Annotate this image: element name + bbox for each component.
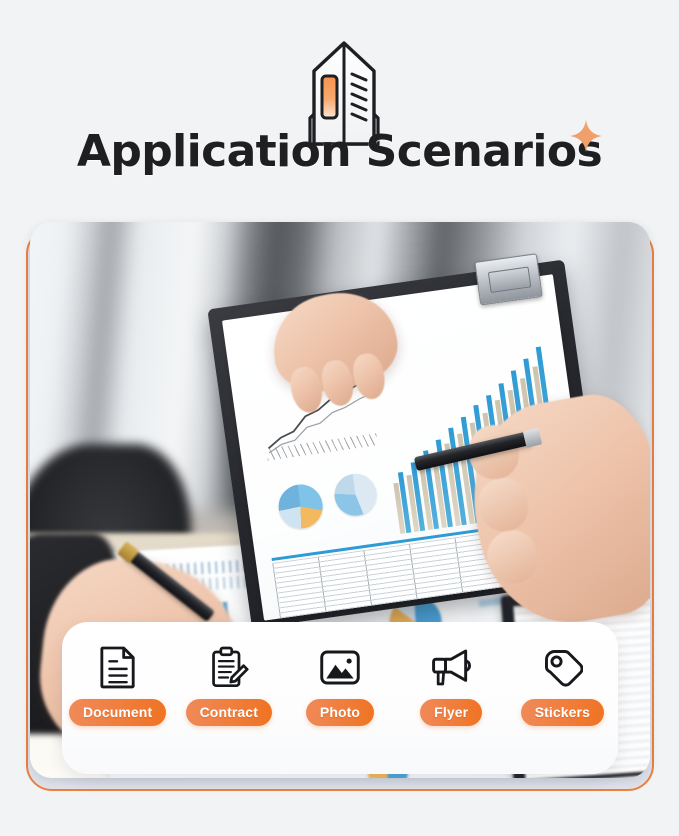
category-chip-stickers[interactable]: Stickers <box>521 699 604 726</box>
sparkle-star-icon <box>568 118 604 154</box>
clipboard-clamp <box>475 254 544 306</box>
megaphone-icon <box>429 644 473 690</box>
category-item-photo[interactable]: Photo <box>288 644 392 726</box>
clipboard-pen-icon <box>209 644 249 690</box>
page-title: Application Scenarios <box>77 126 602 178</box>
document-file-icon <box>99 644 137 690</box>
category-chip-flyer[interactable]: Flyer <box>420 699 482 726</box>
image-picture-icon <box>319 644 361 690</box>
price-tag-icon <box>541 644 583 690</box>
category-item-flyer[interactable]: Flyer <box>399 644 503 726</box>
clipboard-pie-chart-1 <box>276 482 326 532</box>
clipboard-pie-chart-2 <box>332 471 379 518</box>
category-list: Document Contract <box>62 644 618 726</box>
category-chip-document[interactable]: Document <box>69 699 166 726</box>
category-item-document[interactable]: Document <box>66 644 170 726</box>
category-item-contract[interactable]: Contract <box>177 644 281 726</box>
category-chip-contract[interactable]: Contract <box>186 699 272 726</box>
page-header: Application Scenarios <box>0 0 679 205</box>
category-item-stickers[interactable]: Stickers <box>510 644 614 726</box>
category-card: Document Contract <box>62 622 618 774</box>
category-chip-photo[interactable]: Photo <box>306 699 374 726</box>
